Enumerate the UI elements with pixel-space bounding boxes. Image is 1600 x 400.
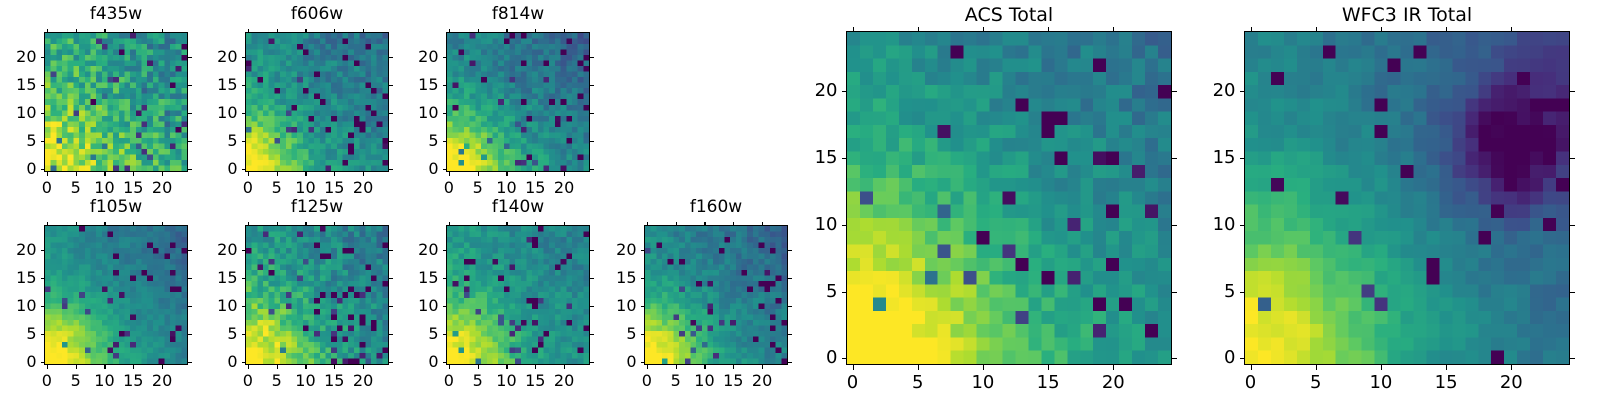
ytick-right-wfc3-ir-total-2 bbox=[1570, 225, 1575, 226]
xtick-top-wfc3-ir-total-1 bbox=[1316, 27, 1317, 32]
heatmap-image-wfc3-ir-total bbox=[1245, 32, 1569, 364]
panel-title-wfc3-ir-total: WFC3 IR Total bbox=[1244, 6, 1570, 25]
xtick-top-wfc3-ir-total-2 bbox=[1381, 27, 1382, 32]
xtick-top-wfc3-ir-total-4 bbox=[1511, 27, 1512, 32]
xtick-top-wfc3-ir-total-3 bbox=[1446, 27, 1447, 32]
xticklabel-wfc3-ir-total-4: 20 bbox=[1500, 374, 1523, 392]
xtick-wfc3-ir-total-1 bbox=[1316, 365, 1317, 370]
ytick-right-wfc3-ir-total-3 bbox=[1570, 158, 1575, 159]
ytick-wfc3-ir-total-4 bbox=[1240, 91, 1245, 92]
heatmap-axes-wfc3-ir-total bbox=[1244, 31, 1570, 365]
panel-wfc3-ir-total: WFC3 IR Total0510152005101520 bbox=[0, 0, 1600, 400]
xticklabel-wfc3-ir-total-0: 0 bbox=[1245, 374, 1256, 392]
yticklabel-wfc3-ir-total-4: 20 bbox=[1178, 82, 1236, 100]
xticklabel-wfc3-ir-total-1: 5 bbox=[1310, 374, 1321, 392]
yticklabel-wfc3-ir-total-3: 15 bbox=[1178, 149, 1236, 167]
xticklabel-wfc3-ir-total-3: 15 bbox=[1435, 374, 1458, 392]
ytick-right-wfc3-ir-total-0 bbox=[1570, 358, 1575, 359]
ytick-wfc3-ir-total-0 bbox=[1240, 358, 1245, 359]
ytick-wfc3-ir-total-3 bbox=[1240, 158, 1245, 159]
ytick-wfc3-ir-total-2 bbox=[1240, 225, 1245, 226]
xticklabel-wfc3-ir-total-2: 10 bbox=[1369, 374, 1392, 392]
xtick-wfc3-ir-total-3 bbox=[1446, 365, 1447, 370]
yticklabel-wfc3-ir-total-1: 5 bbox=[1178, 283, 1236, 301]
figure-canvas: f435w0510152005101520f606w05101520051015… bbox=[0, 0, 1600, 400]
ytick-right-wfc3-ir-total-4 bbox=[1570, 91, 1575, 92]
yticklabel-wfc3-ir-total-2: 10 bbox=[1178, 216, 1236, 234]
xtick-wfc3-ir-total-2 bbox=[1381, 365, 1382, 370]
ytick-right-wfc3-ir-total-1 bbox=[1570, 292, 1575, 293]
yticklabel-wfc3-ir-total-0: 0 bbox=[1178, 349, 1236, 367]
ytick-wfc3-ir-total-1 bbox=[1240, 292, 1245, 293]
xtick-top-wfc3-ir-total-0 bbox=[1251, 27, 1252, 32]
xtick-wfc3-ir-total-0 bbox=[1251, 365, 1252, 370]
xtick-wfc3-ir-total-4 bbox=[1511, 365, 1512, 370]
